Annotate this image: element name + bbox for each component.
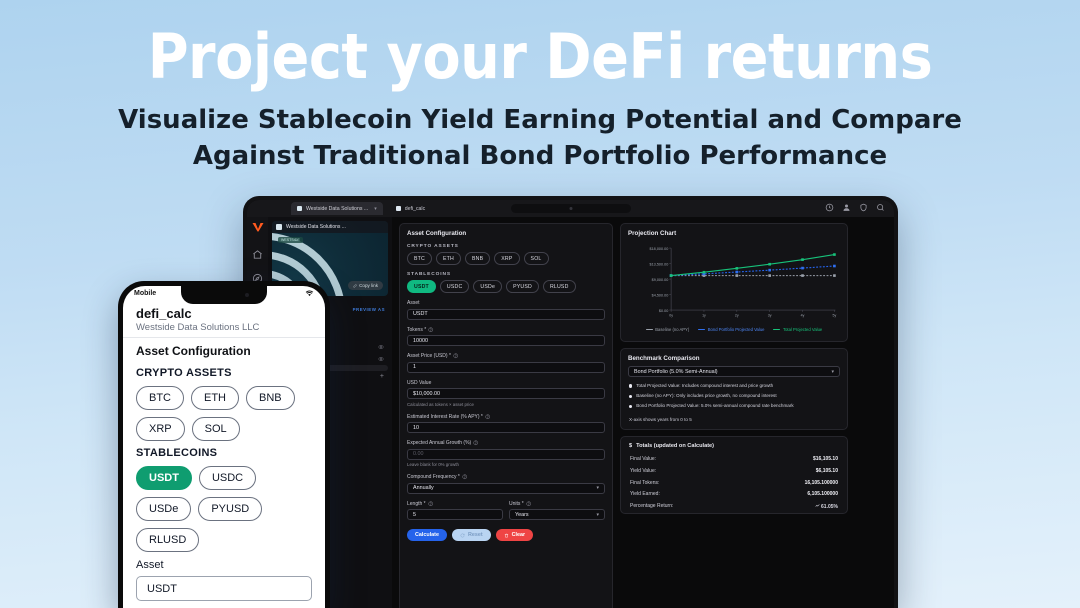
totals-row-final-tokens: Final Tokens: 16,105.100000 <box>621 477 847 489</box>
help-icon[interactable] <box>473 440 479 446</box>
chip-usdt[interactable]: USDT <box>136 466 192 490</box>
chip-usde[interactable]: USDe <box>473 280 502 293</box>
projection-chart-title: Projection Chart <box>621 224 847 241</box>
promo-title: Westside Data Solutions ... <box>286 224 346 230</box>
form-actions: Calculate Reset Clear <box>400 524 612 549</box>
asset-input[interactable]: USDT <box>407 309 605 320</box>
wifi-icon <box>305 289 314 298</box>
totals-value: 61.05% <box>815 503 838 510</box>
crypto-assets-chips: BTC ETH BNB XRP SOL <box>400 252 612 269</box>
tokens-field: Tokens * 10000 <box>400 324 612 351</box>
svg-text:1y: 1y <box>702 314 706 318</box>
bullet-text: Baseline (no APY): Only includes price g… <box>636 393 776 399</box>
benchmark-comparison-card: Benchmark Comparison Bond Portfolio (5.0… <box>620 348 848 430</box>
totals-label: Percentage Return: <box>630 503 673 510</box>
chip-xrp[interactable]: XRP <box>494 252 519 265</box>
chip-sol[interactable]: SOL <box>192 417 240 441</box>
length-units-row: Length * 5 Units * Years ▾ <box>400 498 612 525</box>
projection-chart-plot: $18,000.00 $13,500.00 $9,000.00 $4,500.0… <box>621 241 847 324</box>
browser-tab-westside[interactable]: Westside Data Solutions ... ▾ <box>291 202 383 215</box>
chevron-down-icon[interactable]: ▾ <box>374 206 377 212</box>
usd-value-hint: Calculated as tokens × asset price <box>407 399 605 407</box>
growth-label-text: Expected Annual Growth (%) <box>407 440 471 446</box>
phone-notch <box>181 286 267 304</box>
totals-row-yield-earned: Yield Earned: 6,105.100000 <box>621 488 847 500</box>
asset-configuration-title: Asset Configuration <box>400 224 612 241</box>
brand-logo-icon[interactable] <box>252 222 264 232</box>
phone-crypto-chips: BTC ETH BNB XRP SOL <box>136 386 312 441</box>
units-select[interactable]: Years ▾ <box>509 509 605 520</box>
copy-link-button[interactable]: Copy link <box>348 281 383 290</box>
totals-card: $ Totals (updated on Calculate) Final Va… <box>620 436 848 514</box>
bullet-baseline: Baseline (no APY): Only includes price g… <box>629 391 839 401</box>
bullet-dot-icon <box>629 395 632 398</box>
chart-svg: $18,000.00 $13,500.00 $9,000.00 $4,500.0… <box>627 241 841 319</box>
units-field: Units * Years ▾ <box>509 498 605 521</box>
tokens-label-text: Tokens * <box>407 327 426 333</box>
clear-label: Clear <box>512 532 526 538</box>
copy-link-label: Copy link <box>359 283 378 288</box>
length-label-text: Length * <box>407 501 426 507</box>
trash-icon <box>504 533 509 538</box>
chip-rlusd[interactable]: RLUSD <box>136 528 199 552</box>
usd-value-field: USD Value $10,000.00 Calculated as token… <box>400 377 612 411</box>
stablecoin-chips: USDT USDC USDe PYUSD RLUSD <box>400 280 612 297</box>
benchmark-select-value: Bond Portfolio (5.0% Semi-Annual) <box>634 369 718 375</box>
phone-stablecoin-chips: USDT USDC USDe PYUSD RLUSD <box>136 466 312 552</box>
compound-frequency-select[interactable]: Annually ▾ <box>407 483 605 494</box>
growth-label: Expected Annual Growth (%) <box>407 437 605 449</box>
apy-label-text: Estimated Interest Rate (% APY) * <box>407 414 483 420</box>
legend-swatch-icon <box>646 329 653 331</box>
chip-sol[interactable]: SOL <box>524 252 549 265</box>
svg-text:5y: 5y <box>833 314 837 318</box>
bullet-bond: Bond Portfolio Projected Value: 5.0% sem… <box>629 401 839 411</box>
benchmark-title: Benchmark Comparison <box>621 349 847 366</box>
growth-field: Expected Annual Growth (%) 0.00 Leave bl… <box>400 437 612 471</box>
asset-field: Asset USDT <box>400 297 612 324</box>
totals-row-percentage-return: Percentage Return: 61.05% <box>621 500 847 513</box>
carrier-label: Mobile <box>134 290 156 297</box>
phone-stablecoins-label: STABLECOINS <box>136 447 312 459</box>
eye-icon[interactable] <box>378 344 384 350</box>
phone-device: Mobile defi_calc Westside Data Solutions… <box>118 281 330 608</box>
benchmark-select[interactable]: Bond Portfolio (5.0% Semi-Annual) ▾ <box>628 366 840 377</box>
chip-usdc[interactable]: USDC <box>199 466 256 490</box>
chevron-down-icon: ▾ <box>596 512 599 518</box>
asset-price-label: Asset Price (USD) * <box>407 350 605 362</box>
percentage-return-text: 61.05% <box>821 504 838 510</box>
home-icon[interactable] <box>252 249 263 260</box>
units-value: Years <box>515 512 529 518</box>
projection-chart-card: Projection Chart $18,000.00 $13,500.00 $… <box>620 223 848 342</box>
help-icon[interactable] <box>453 353 459 359</box>
favicon-icon <box>297 206 302 211</box>
window-controls <box>825 203 885 212</box>
usd-value-label: USD Value <box>407 377 605 389</box>
tokens-input[interactable]: 10000 <box>407 335 605 346</box>
svg-text:$18,000.00: $18,000.00 <box>650 247 669 251</box>
svg-text:3y: 3y <box>768 314 772 318</box>
svg-text:$4,500.00: $4,500.00 <box>652 293 669 297</box>
help-icon[interactable] <box>462 474 468 480</box>
apy-field: Estimated Interest Rate (% APY) * 10 <box>400 411 612 438</box>
profile-icon[interactable] <box>842 203 851 212</box>
legend-item-bond[interactable]: Bond Portfolio Projected Value <box>698 327 764 332</box>
chip-btc[interactable]: BTC <box>136 386 184 410</box>
totals-value: 16,105.100000 <box>805 480 838 486</box>
growth-hint: Leave blank for 0% growth <box>407 460 605 468</box>
chip-pyusd[interactable]: PYUSD <box>198 497 262 521</box>
phone-app-subtitle: Westside Data Solutions LLC <box>136 322 312 333</box>
promo-badge: WESTSIDE <box>278 237 303 243</box>
asset-price-label-text: Asset Price (USD) * <box>407 353 451 359</box>
chip-eth[interactable]: ETH <box>191 386 239 410</box>
calculate-button[interactable]: Calculate <box>407 529 447 541</box>
chip-xrp[interactable]: XRP <box>136 417 185 441</box>
totals-row-final-value: Final Value: $16,105.10 <box>621 454 847 466</box>
phone-app-title: defi_calc <box>136 306 312 321</box>
legend-swatch-icon <box>698 329 705 331</box>
hero-section: Project your DeFi returns Visualize Stab… <box>0 0 1080 175</box>
app-content: Asset Configuration CRYPTO ASSETS BTC ET… <box>392 217 894 608</box>
bullet-dot-icon <box>629 405 632 408</box>
bullet-total: Total Projected Value: Includes compound… <box>629 381 839 391</box>
legend-item-total[interactable]: Total Projected Value <box>773 327 822 332</box>
help-icon[interactable] <box>526 501 532 507</box>
legend-label: Bond Portfolio Projected Value <box>708 327 765 332</box>
tokens-label: Tokens * <box>407 324 605 336</box>
bullet-dot-icon <box>629 384 632 387</box>
totals-header: $ Totals (updated on Calculate) <box>621 437 847 454</box>
eye-icon[interactable] <box>378 356 384 362</box>
bullet-text: Total Projected Value: Includes compound… <box>636 383 773 389</box>
apy-label: Estimated Interest Rate (% APY) * <box>407 411 605 423</box>
refresh-icon <box>460 533 465 538</box>
tablet-viewport: Westside Data Solutions ... WESTSIDE Cop… <box>247 217 894 608</box>
page-subtitle: Visualize Stablecoin Yield Earning Poten… <box>60 103 1020 175</box>
chip-eth[interactable]: ETH <box>436 252 461 265</box>
asset-configuration-card: Asset Configuration CRYPTO ASSETS BTC ET… <box>399 223 613 608</box>
tablet-camera-notch <box>511 204 631 213</box>
legend-item-baseline[interactable]: Baseline (no APY) <box>646 327 690 332</box>
totals-title: Totals (updated on Calculate) <box>636 443 714 449</box>
preview-as-button[interactable]: PREVIEW AS <box>353 307 385 312</box>
browser-tab-label: defi_calc <box>405 206 425 212</box>
asset-price-input[interactable]: 1 <box>407 362 605 373</box>
browser-tab-label: Westside Data Solutions ... <box>306 206 368 212</box>
chip-rlusd[interactable]: RLUSD <box>543 280 576 293</box>
shield-icon[interactable] <box>859 203 868 212</box>
svg-text:0y: 0y <box>669 314 673 318</box>
clear-button[interactable]: Clear <box>496 529 534 541</box>
phone-asset-input[interactable]: USDT <box>136 576 312 601</box>
totals-row-yield-value: Yield Value: $6,105.10 <box>621 465 847 477</box>
chart-legend: Baseline (no APY) Bond Portfolio Project… <box>621 324 847 336</box>
chip-pyusd[interactable]: PYUSD <box>506 280 539 293</box>
growth-input[interactable]: 0.00 <box>407 449 605 460</box>
clock-icon[interactable] <box>825 203 834 212</box>
link-icon <box>353 284 357 288</box>
totals-label: Final Value: <box>630 456 656 462</box>
chip-usdc[interactable]: USDC <box>440 280 470 293</box>
search-icon[interactable] <box>876 203 885 212</box>
chip-bnb[interactable]: BNB <box>465 252 490 265</box>
chevron-down-icon: ▾ <box>831 369 834 375</box>
totals-value: 6,105.100000 <box>807 491 838 497</box>
legend-label: Baseline (no APY) <box>655 327 689 332</box>
units-label: Units * <box>509 498 605 510</box>
axis-note: X-axis shows years from 0 to 5 <box>621 412 847 429</box>
units-label-text: Units * <box>509 501 524 507</box>
benchmark-select-field: Bond Portfolio (5.0% Semi-Annual) ▾ <box>621 366 847 381</box>
length-field: Length * 5 <box>407 498 503 521</box>
svg-text:2y: 2y <box>735 314 739 318</box>
help-icon[interactable] <box>485 414 491 420</box>
help-icon[interactable] <box>428 501 434 507</box>
chip-usde[interactable]: USDe <box>136 497 191 521</box>
reset-button[interactable]: Reset <box>452 529 491 541</box>
trend-up-icon <box>815 503 820 508</box>
totals-value: $16,105.10 <box>813 456 838 462</box>
length-input[interactable]: 5 <box>407 509 503 520</box>
phone-screen: Mobile defi_calc Westside Data Solutions… <box>123 286 325 608</box>
legend-swatch-icon <box>773 329 780 331</box>
dollar-icon: $ <box>629 443 632 449</box>
promo-card-header: Westside Data Solutions ... <box>272 221 388 233</box>
chip-bnb[interactable]: BNB <box>246 386 295 410</box>
compound-frequency-label: Compound Frequency * <box>407 471 605 483</box>
tablet-device: Westside Data Solutions ... ▾ defi_calc <box>243 196 898 608</box>
phone-form: Asset Configuration CRYPTO ASSETS BTC ET… <box>123 338 325 608</box>
benchmark-bullets: Total Projected Value: Includes compound… <box>621 381 847 412</box>
totals-label: Final Tokens: <box>630 480 659 486</box>
totals-label: Yield Value: <box>630 468 656 474</box>
phone-asset-label: Asset <box>136 559 312 571</box>
svg-text:$0.00: $0.00 <box>659 309 668 313</box>
results-column: Projection Chart $18,000.00 $13,500.00 $… <box>620 223 848 608</box>
browser-tab-bar: Westside Data Solutions ... ▾ defi_calc <box>247 200 894 217</box>
compound-frequency-field: Compound Frequency * Annually ▾ <box>400 471 612 498</box>
compound-frequency-value: Annually <box>413 485 434 491</box>
browser-tab-deficalc[interactable]: defi_calc <box>389 202 432 215</box>
chip-usdt[interactable]: USDT <box>407 280 436 293</box>
favicon-icon <box>276 224 282 230</box>
totals-value: $6,105.10 <box>816 468 838 474</box>
favicon-icon <box>396 206 401 211</box>
legend-label: Total Projected Value <box>783 327 822 332</box>
phone-section-title: Asset Configuration <box>136 344 312 358</box>
svg-text:4y: 4y <box>801 314 805 318</box>
compound-frequency-label-text: Compound Frequency * <box>407 474 460 480</box>
asset-label: Asset <box>407 297 605 309</box>
length-label: Length * <box>407 498 503 510</box>
phone-app-header: defi_calc Westside Data Solutions LLC <box>123 301 325 337</box>
bullet-text: Bond Portfolio Projected Value: 5.0% sem… <box>636 403 793 409</box>
chip-btc[interactable]: BTC <box>407 252 432 265</box>
crypto-assets-label: CRYPTO ASSETS <box>400 241 612 252</box>
asset-price-field: Asset Price (USD) * 1 <box>400 350 612 377</box>
stablecoins-label: STABLECOINS <box>400 269 612 280</box>
chevron-down-icon: ▾ <box>596 485 599 491</box>
svg-text:$13,500.00: $13,500.00 <box>650 262 669 266</box>
apy-input[interactable]: 10 <box>407 422 605 433</box>
reset-label: Reset <box>468 532 483 538</box>
phone-crypto-label: CRYPTO ASSETS <box>136 367 312 379</box>
svg-text:$9,000.00: $9,000.00 <box>652 278 669 282</box>
page-title: Project your DeFi returns <box>0 24 1080 89</box>
help-icon[interactable] <box>428 327 434 333</box>
usd-value-display: $10,000.00 <box>407 388 605 399</box>
totals-label: Yield Earned: <box>630 491 660 497</box>
